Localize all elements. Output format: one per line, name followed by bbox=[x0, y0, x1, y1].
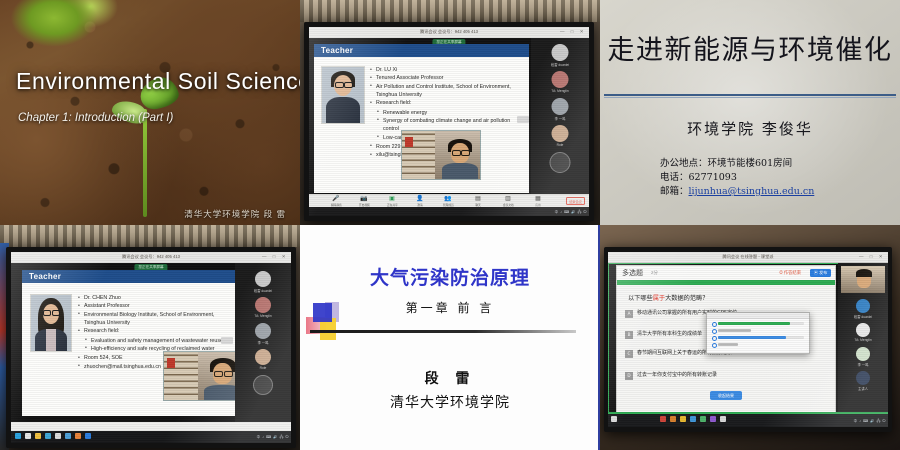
toolbar-button-apps[interactable]: ▦ 应用 bbox=[533, 196, 543, 206]
avatar bbox=[255, 271, 271, 287]
panel-air-pollution-slide: 大气污染防治原理 第一章 前 言 段 雷 清华大学环境学院 bbox=[300, 225, 600, 450]
avatar bbox=[255, 297, 271, 313]
participant-name: 段雷 duanlei bbox=[854, 314, 872, 319]
bullet-list: Dr. CHEN Zhuo Assistant Professor Enviro… bbox=[78, 294, 231, 336]
bar-fill bbox=[718, 343, 738, 346]
list-item[interactable]: 李 一鸣 bbox=[838, 347, 888, 369]
author-name: 段 雷 bbox=[300, 368, 600, 388]
avatar bbox=[856, 371, 870, 385]
page-title: 大气污染防治原理 bbox=[300, 263, 600, 290]
glasses-icon bbox=[52, 310, 60, 316]
monitor-screen: 腾讯会议 在线答题 - 课堂派 — □ ✕ 多选题 2分 ⏱ 作答结束 ▣ 发布… bbox=[608, 252, 888, 427]
taskbar-icon-store[interactable] bbox=[25, 433, 31, 439]
taskbar-icon-app6[interactable] bbox=[710, 416, 716, 422]
highlight-border-top bbox=[608, 263, 838, 264]
list-item[interactable]: 段雷 duanlei bbox=[531, 44, 589, 70]
toolbar-button-camera[interactable]: 📷 开启视频 bbox=[359, 196, 369, 206]
participant-rail[interactable]: 段雷 duanlei TA: Menglin 李 一鸣 Role bbox=[531, 38, 589, 195]
list-item: Dr. LU Xi bbox=[370, 66, 525, 74]
taskbar-icon-app7[interactable] bbox=[720, 416, 726, 422]
question-suffix: 大数据的范畴？ bbox=[665, 295, 708, 302]
system-tray[interactable]: 中 ♪ ⌨ 🔊 🖧 ⏻ bbox=[257, 434, 289, 441]
monitor-screen: 腾讯会议 会议号：942 405 413 — □ ✕ 您正在共享屏幕 Teach… bbox=[11, 252, 291, 443]
glasses-icon bbox=[452, 150, 461, 156]
participant-name: Role bbox=[557, 143, 564, 147]
avatar bbox=[552, 98, 569, 115]
list-item[interactable]: TA: Menglin bbox=[235, 297, 291, 322]
mic-muted-icon: 🎤 bbox=[331, 196, 341, 202]
quiz-end-text: 作答结束 bbox=[784, 270, 801, 275]
self-view-video[interactable] bbox=[163, 351, 245, 401]
page-title: 走进新能源与环境催化 bbox=[600, 28, 900, 67]
meeting-stage: 您正在共享屏幕 Teacher bbox=[11, 263, 291, 422]
windows-taskbar[interactable]: 中 ♪ ⌨ 🔊 🖧 ⏻ bbox=[11, 431, 291, 443]
end-meeting-button[interactable]: 结束会议 bbox=[566, 197, 585, 205]
meeting-toolbar[interactable]: 🎤 解除静音 📷 开启视频 ▣ 正在共享 👤 邀请 bbox=[309, 194, 589, 207]
ceiling-strip bbox=[0, 225, 300, 247]
slide-header-band: Teacher bbox=[314, 44, 529, 57]
list-item: Tenured Associate Professor bbox=[370, 74, 525, 82]
glasses-icon bbox=[335, 82, 344, 88]
list-item: Assistant Professor bbox=[78, 302, 231, 310]
participant-name: TA: Menglin bbox=[854, 338, 871, 342]
bullet-list: Dr. LU Xi Tenured Associate Professor Ai… bbox=[370, 66, 525, 108]
glasses-icon bbox=[224, 371, 233, 377]
option-key: A bbox=[625, 310, 633, 318]
bar-fill bbox=[718, 322, 790, 325]
toolbar-button-members[interactable]: 👥 管理成员 bbox=[443, 196, 453, 206]
glasses-icon bbox=[344, 82, 353, 88]
invite-icon: 👤 bbox=[415, 196, 425, 202]
torso-shape bbox=[442, 163, 478, 179]
avatar bbox=[552, 44, 569, 61]
toolbar-button-mic[interactable]: 🎤 解除静音 bbox=[331, 196, 341, 206]
list-item: Environmental Biology Institute, School … bbox=[78, 311, 231, 327]
members-icon: 👥 bbox=[443, 196, 453, 202]
slide-header-label: Teacher bbox=[321, 46, 353, 55]
quiz-end-label: ⏱ 作答结束 bbox=[779, 270, 801, 276]
panel-meeting-chen-zhuo: 腾讯会议 会议号：942 405 413 — □ ✕ 您正在共享屏幕 Teach… bbox=[0, 225, 300, 450]
taskbar-icon-app1[interactable] bbox=[660, 416, 666, 422]
toolbar-label: 管理成员 bbox=[443, 203, 453, 207]
slide-credit: 清华大学环境学院 段 雷 bbox=[184, 208, 286, 220]
participant-name: 李 一鸣 bbox=[258, 340, 269, 345]
self-view-video[interactable] bbox=[401, 130, 481, 180]
option-key: D bbox=[625, 372, 633, 380]
list-item: Evaluation and safety management of wast… bbox=[85, 337, 231, 345]
collage-grid: Environmental Soil Science Chapter 1: In… bbox=[0, 0, 900, 450]
participant-name: Role bbox=[260, 366, 267, 370]
stem-shape bbox=[143, 109, 147, 217]
quiz-question: 以下哪些属于大数据的范畴？ bbox=[628, 293, 708, 302]
taskbar-icon-explorer[interactable] bbox=[35, 433, 41, 439]
phone-value: 62771093 bbox=[689, 172, 737, 183]
question-prefix: 以下哪些 bbox=[628, 295, 653, 302]
window-title: 腾讯会议 会议号：942 405 413 bbox=[122, 254, 180, 260]
publish-button[interactable]: ▣ 发布 bbox=[810, 269, 831, 278]
publish-label: 发布 bbox=[819, 270, 827, 275]
list-item[interactable]: 段雷 duanlei bbox=[838, 299, 888, 321]
result-row-b bbox=[712, 329, 804, 332]
participant-name: 段雷 duanlei bbox=[254, 288, 272, 293]
chat-icon: ▤ bbox=[473, 196, 483, 202]
list-item: Air Pollution and Control Institute, Sch… bbox=[370, 83, 525, 99]
toolbar-button-chat[interactable]: ▤ 聊天 bbox=[473, 196, 483, 206]
participant-name: TA: Menglin bbox=[254, 314, 271, 318]
taskbar-icon-cloud[interactable] bbox=[65, 433, 71, 439]
quiz-progress-bar bbox=[617, 280, 835, 285]
participant-name: 段雷 duanlei bbox=[551, 62, 569, 67]
blouse-shape bbox=[46, 329, 56, 351]
organization: 清华大学环境学院 bbox=[300, 392, 600, 412]
taskbar-icon-app2[interactable] bbox=[670, 416, 676, 422]
meeting-window: 腾讯会议 会议号：942 405 413 — □ ✕ 您正在共享屏幕 Teach… bbox=[309, 27, 589, 216]
hair-shape bbox=[856, 269, 872, 277]
quiz-header: 多选题 2分 ⏱ 作答结束 ▣ 发布 bbox=[617, 266, 835, 281]
window-controls[interactable]: — □ ✕ bbox=[262, 254, 288, 260]
suit-shape bbox=[326, 97, 360, 123]
office-value: 环境节能楼601房间 bbox=[708, 158, 793, 169]
toolbar-label: 邀请 bbox=[415, 203, 425, 207]
avatar bbox=[255, 323, 271, 339]
avatar bbox=[552, 125, 569, 142]
avatar bbox=[856, 323, 870, 337]
participant-name: 李 一鸣 bbox=[555, 116, 566, 121]
bookshelf-background bbox=[164, 352, 198, 400]
radio-icon[interactable] bbox=[712, 336, 717, 341]
contact-block: 办公地点：环境节能楼601房间 电话：62771093 邮箱：lijunhua@… bbox=[660, 157, 814, 199]
page-title: Environmental Soil Science bbox=[16, 68, 300, 95]
panel-quiz-poll: 腾讯会议 在线答题 - 课堂派 — □ ✕ 多选题 2分 ⏱ 作答结束 ▣ 发布… bbox=[600, 225, 900, 450]
apps-icon: ▦ bbox=[533, 196, 543, 202]
collapse-results-button[interactable]: 收起结果 bbox=[710, 391, 742, 400]
list-item: Renewable energy bbox=[377, 109, 525, 117]
taskbar-icon-weather[interactable] bbox=[75, 433, 81, 439]
avatar bbox=[856, 299, 870, 313]
camera-off-icon: 📷 bbox=[359, 196, 369, 202]
toolbar-label: 开启视频 bbox=[359, 203, 369, 207]
avatar bbox=[552, 71, 569, 88]
taskbar-icon-app4[interactable] bbox=[690, 416, 696, 422]
email-label: 邮箱： bbox=[660, 186, 689, 197]
participant-rail[interactable]: 段雷 duanlei TA: Menglin 李 一鸣 Role bbox=[235, 263, 291, 422]
office-line: 办公地点：环境节能楼601房间 bbox=[660, 157, 814, 171]
result-row-c bbox=[712, 336, 804, 339]
window-controls[interactable]: — □ ✕ bbox=[859, 254, 885, 260]
list-item[interactable]: Role bbox=[531, 125, 589, 151]
self-view-video[interactable] bbox=[841, 266, 885, 293]
radio-icon[interactable] bbox=[712, 343, 717, 348]
divider bbox=[604, 97, 896, 98]
share-screen-icon: ▣ bbox=[387, 196, 397, 202]
avatar bbox=[253, 375, 273, 395]
panel-soil-slide: Environmental Soil Science Chapter 1: In… bbox=[0, 0, 300, 225]
phone-label: 电话： bbox=[660, 172, 689, 183]
radio-icon[interactable] bbox=[712, 329, 717, 334]
list-item[interactable]: 段雷 duanlei bbox=[235, 271, 291, 296]
window-controls[interactable]: — □ ✕ bbox=[560, 29, 586, 35]
list-item: Research field: bbox=[370, 99, 525, 107]
quiz-option-d[interactable]: D 过去一年你支付宝中的所有转账记录 bbox=[625, 372, 829, 379]
system-tray[interactable]: 中 ♪ ⌨ 🔊 🖧 ⏻ bbox=[555, 209, 587, 216]
bar-fill bbox=[718, 329, 751, 332]
taskbar-icon-edge[interactable] bbox=[15, 433, 21, 439]
toolbar-button-invite[interactable]: 👤 邀请 bbox=[415, 196, 425, 206]
taskbar-icon-start[interactable] bbox=[611, 416, 617, 422]
glasses-icon bbox=[43, 310, 51, 316]
windows-taskbar[interactable]: 中 ♪ ⌨ 🔊 🖧 ⏻ bbox=[309, 207, 589, 216]
speaker-badge bbox=[221, 337, 233, 344]
meeting-stage: 您正在共享屏幕 Teacher bbox=[309, 38, 589, 195]
document-icon: ▥ bbox=[503, 196, 513, 202]
glasses-icon bbox=[461, 150, 470, 156]
list-item[interactable]: TA: Menglin bbox=[531, 71, 589, 97]
avatar bbox=[255, 349, 271, 365]
option-key: B bbox=[625, 331, 633, 339]
quiz-window: 腾讯会议 在线答题 - 课堂派 — □ ✕ 多选题 2分 ⏱ 作答结束 ▣ 发布… bbox=[608, 252, 888, 427]
option-key: C bbox=[625, 350, 633, 358]
list-item[interactable] bbox=[531, 152, 589, 178]
divider bbox=[604, 94, 896, 96]
toolbar-label: 聊天 bbox=[473, 203, 483, 207]
result-row-d bbox=[712, 343, 804, 346]
slide-header-label: Teacher bbox=[29, 272, 61, 281]
toolbar-label: 正在共享 bbox=[387, 203, 397, 207]
window-title: 腾讯会议 会议号：942 405 413 bbox=[420, 29, 478, 35]
radio-icon[interactable] bbox=[712, 322, 717, 327]
list-item: Research field: bbox=[78, 327, 231, 335]
windows-taskbar[interactable]: 中 ♪ ⌨ 🔊 🖧 ⏻ bbox=[608, 414, 888, 427]
divider bbox=[310, 330, 576, 333]
glasses-icon bbox=[214, 371, 223, 377]
highlight-border-left bbox=[608, 263, 609, 413]
taskbar-icon-app3[interactable] bbox=[680, 416, 686, 422]
teacher-portrait bbox=[30, 294, 72, 352]
quiz-type-label: 多选题 bbox=[622, 268, 643, 278]
list-item[interactable]: 李 一鸣 bbox=[531, 98, 589, 124]
monitor-screen: 腾讯会议 会议号：942 405 413 — □ ✕ 您正在共享屏幕 Teach… bbox=[309, 27, 589, 216]
taskbar-icon-mail[interactable] bbox=[55, 433, 61, 439]
participant-name: TA: Menglin bbox=[551, 89, 568, 93]
option-text: 过去一年你支付宝中的所有转账记录 bbox=[625, 372, 829, 379]
email-line: 邮箱：lijunhua@tsinghua.edu.cn bbox=[660, 185, 814, 199]
list-item[interactable]: TA: Menglin bbox=[838, 323, 888, 345]
slide-header-band: Teacher bbox=[22, 270, 235, 283]
list-item[interactable]: Role bbox=[235, 349, 291, 374]
meeting-window: 腾讯会议 会议号：942 405 413 — □ ✕ 您正在共享屏幕 Teach… bbox=[11, 252, 291, 443]
question-highlight: 属于 bbox=[653, 295, 665, 302]
participant-rail[interactable]: 段雷 duanlei TA: Menglin 李 一鸣 主讲人 bbox=[838, 263, 888, 413]
participant-name: 主讲人 bbox=[858, 386, 868, 391]
office-label: 办公地点： bbox=[660, 158, 708, 169]
popup-titlebar bbox=[707, 313, 809, 319]
phone-line: 电话：62771093 bbox=[660, 171, 814, 185]
teacher-portrait bbox=[321, 66, 365, 124]
system-tray[interactable]: 中 ♪ ⌨ 🔊 🖧 ⏻ bbox=[854, 418, 886, 425]
panel-projected-title-slide: 走进新能源与环境催化 环境学院 李俊华 办公地点：环境节能楼601房间 电话：6… bbox=[600, 0, 900, 225]
taskbar-icon-meeting[interactable] bbox=[85, 433, 91, 439]
toolbar-button-share[interactable]: ▣ 正在共享 bbox=[387, 196, 397, 206]
toolbar-label: 会议文档 bbox=[503, 203, 513, 207]
avatar bbox=[550, 152, 571, 173]
slide-surface: 大气污染防治原理 第一章 前 言 段 雷 清华大学环境学院 bbox=[300, 225, 600, 450]
quiz-points: 2分 bbox=[651, 270, 658, 276]
email-text: zhuochen@mail.tsinghua.edu.cn bbox=[84, 364, 161, 370]
taskbar-icon-browser[interactable] bbox=[45, 433, 51, 439]
toolbar-label: 应用 bbox=[533, 203, 543, 207]
clock-icon: ⏱ bbox=[779, 270, 782, 275]
slide-subtitle: 环境学院 李俊华 bbox=[600, 118, 900, 139]
bar-fill bbox=[718, 336, 786, 339]
window-titlebar: 腾讯会议 在线答题 - 课堂派 — □ ✕ bbox=[608, 252, 888, 263]
list-item[interactable]: 主讲人 bbox=[838, 371, 888, 393]
slide-subtitle: 第一章 前 言 bbox=[300, 299, 600, 316]
monitor-icon: ▣ bbox=[814, 270, 818, 275]
toolbar-label: 解除静音 bbox=[331, 203, 341, 207]
window-title: 腾讯会议 在线答题 - 课堂派 bbox=[723, 254, 774, 260]
result-row-a bbox=[712, 322, 804, 325]
participant-name: 李 一鸣 bbox=[858, 362, 869, 367]
ceiling-strip bbox=[300, 0, 600, 22]
email-link[interactable]: lijunhua@tsinghua.edu.cn bbox=[689, 186, 815, 197]
list-item[interactable]: 李 一鸣 bbox=[235, 323, 291, 348]
list-item[interactable] bbox=[235, 375, 291, 400]
toolbar-button-document[interactable]: ▥ 会议文档 bbox=[503, 196, 513, 206]
slide-subtitle: Chapter 1: Introduction (Part I) bbox=[18, 112, 173, 124]
results-popup[interactable] bbox=[706, 312, 810, 354]
bookshelf-background bbox=[402, 131, 435, 179]
panel-meeting-lu-xi: 腾讯会议 会议号：942 405 413 — □ ✕ 您正在共享屏幕 Teach… bbox=[300, 0, 600, 225]
taskbar-icon-app5[interactable] bbox=[700, 416, 706, 422]
list-item: Dr. CHEN Zhuo bbox=[78, 294, 231, 302]
speaker-badge bbox=[517, 116, 529, 123]
avatar bbox=[856, 347, 870, 361]
